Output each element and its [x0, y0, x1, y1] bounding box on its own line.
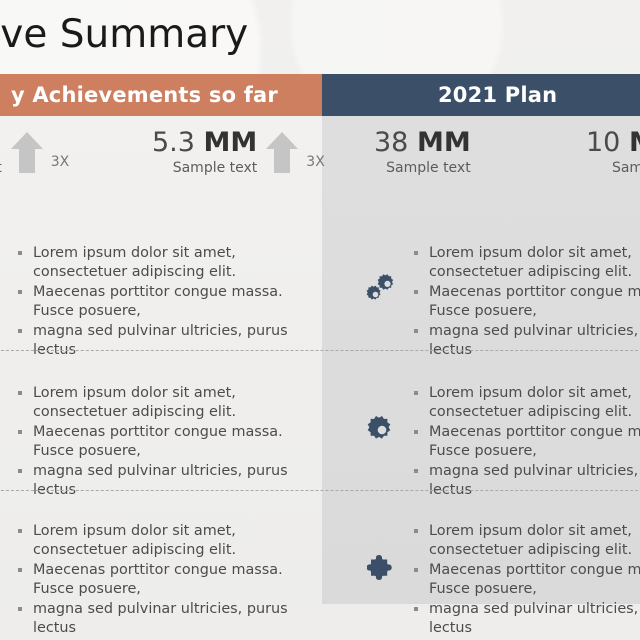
- metric-2-text: 5.3 MM Sample text: [152, 128, 257, 177]
- column-header-achievements-label: y Achievements so far: [11, 83, 278, 107]
- metric-3-number: 38 MM: [374, 128, 471, 158]
- metric-1-multiplier: 3X: [51, 154, 70, 170]
- list-item-text: magna sed pulvinar ultricies, purus lect…: [429, 322, 640, 360]
- row-3-left-bullets: Lorem ipsum dolor sit amet, consectetuer…: [16, 522, 316, 639]
- metric-1-text: MM le text: [0, 128, 2, 177]
- metric-1: MM le text 3X: [0, 128, 69, 177]
- metric-3-subtitle: Sample text: [386, 159, 471, 177]
- content-row-2: Lorem ipsum dolor sit amet, consectetuer…: [0, 384, 640, 520]
- metric-2-unit: MM: [204, 127, 258, 158]
- slide-canvas: cutive Summary y Achievements so far 202…: [0, 0, 640, 640]
- list-item: Maecenas porttitor congue massa. Fusce p…: [412, 423, 640, 461]
- metric-4: 10 M Sampl: [586, 128, 640, 177]
- row-2-right-bullets: Lorem ipsum dolor sit amet, consectetuer…: [412, 384, 640, 501]
- two-gears-icon: [354, 260, 410, 316]
- metric-1-subtitle: le text: [0, 159, 2, 177]
- list-item: magna sed pulvinar ultricies, purus lect…: [412, 462, 640, 500]
- list-item-text: Maecenas porttitor congue massa. Fusce p…: [33, 283, 316, 321]
- row-3-right-bullets: Lorem ipsum dolor sit amet, consectetuer…: [412, 522, 640, 639]
- list-item-text: magna sed pulvinar ultricies, purus lect…: [33, 322, 316, 360]
- list-item: Lorem ipsum dolor sit amet, consectetuer…: [16, 384, 316, 422]
- list-item-text: magna sed pulvinar ultricies, purus lect…: [429, 600, 640, 638]
- metric-2-subtitle: Sample text: [173, 159, 258, 177]
- list-item-text: Lorem ipsum dolor sit amet, consectetuer…: [33, 244, 316, 282]
- metric-4-value: 10: [586, 127, 620, 158]
- list-item: magna sed pulvinar ultricies, purus lect…: [412, 322, 640, 360]
- metric-2-value: 5.3: [152, 127, 195, 158]
- metric-4-number: 10 M: [586, 128, 640, 158]
- metric-4-unit: M: [629, 127, 640, 158]
- list-item: magna sed pulvinar ultricies, purus lect…: [412, 600, 640, 638]
- list-item-text: Lorem ipsum dolor sit amet, consectetuer…: [429, 522, 640, 560]
- list-item-text: Lorem ipsum dolor sit amet, consectetuer…: [429, 384, 640, 422]
- metric-2: 5.3 MM Sample text 3X: [152, 128, 325, 177]
- list-item-text: Lorem ipsum dolor sit amet, consectetuer…: [33, 522, 316, 560]
- row-1-left-bullets: Lorem ipsum dolor sit amet, consectetuer…: [16, 244, 316, 361]
- list-item: magna sed pulvinar ultricies, purus lect…: [16, 322, 316, 360]
- metric-2-arrow-wrap: 3X: [265, 128, 325, 174]
- column-header-plan: 2021 Plan: [322, 74, 640, 116]
- metric-3-value: 38: [374, 127, 408, 158]
- row-1-right-bullets: Lorem ipsum dolor sit amet, consectetuer…: [412, 244, 640, 361]
- list-item-text: magna sed pulvinar ultricies, purus lect…: [429, 462, 640, 500]
- page-title: cutive Summary: [0, 8, 428, 62]
- list-item: Maecenas porttitor congue massa. Fusce p…: [16, 283, 316, 321]
- content-row-3: Lorem ipsum dolor sit amet, consectetuer…: [0, 522, 640, 640]
- list-item-text: Maecenas porttitor congue massa. Fusce p…: [33, 561, 316, 599]
- metric-4-subtitle: Sampl: [612, 159, 640, 177]
- list-item-text: magna sed pulvinar ultricies, purus lect…: [33, 462, 316, 500]
- list-item-text: Maecenas porttitor congue massa. Fusce p…: [33, 423, 316, 461]
- row-divider-1: [0, 350, 640, 351]
- metric-1-unit: MM: [0, 127, 2, 158]
- list-item-text: Lorem ipsum dolor sit amet, consectetuer…: [33, 384, 316, 422]
- row-divider-2: [0, 490, 640, 491]
- list-item: Maecenas porttitor congue massa. Fusce p…: [412, 561, 640, 599]
- column-header-achievements: y Achievements so far: [0, 74, 322, 116]
- list-item: Lorem ipsum dolor sit amet, consectetuer…: [412, 244, 640, 282]
- metric-4-text: 10 M Sampl: [586, 128, 640, 177]
- metric-3-unit: MM: [417, 127, 471, 158]
- list-item: Maecenas porttitor congue massa. Fusce p…: [412, 283, 640, 321]
- metric-3-text: 38 MM Sample text: [374, 128, 471, 177]
- list-item-text: Maecenas porttitor congue massa. Fusce p…: [429, 423, 640, 461]
- list-item: magna sed pulvinar ultricies, purus lect…: [16, 462, 316, 500]
- list-item-text: Lorem ipsum dolor sit amet, consectetuer…: [429, 244, 640, 282]
- metric-2-multiplier: 3X: [306, 154, 325, 170]
- metric-1-arrow-wrap: 3X: [10, 128, 70, 174]
- content-row-1: Lorem ipsum dolor sit amet, consectetuer…: [0, 244, 640, 380]
- row-2-left-bullets: Lorem ipsum dolor sit amet, consectetuer…: [16, 384, 316, 501]
- list-item-text: Maecenas porttitor congue massa. Fusce p…: [429, 283, 640, 321]
- column-header-plan-label: 2021 Plan: [438, 83, 557, 107]
- list-item-text: Maecenas porttitor congue massa. Fusce p…: [429, 561, 640, 599]
- metric-2-number: 5.3 MM: [152, 128, 257, 158]
- metric-1-number: MM: [0, 128, 2, 158]
- up-arrow-icon: [10, 130, 44, 174]
- list-item: Lorem ipsum dolor sit amet, consectetuer…: [16, 522, 316, 560]
- list-item: Lorem ipsum dolor sit amet, consectetuer…: [412, 522, 640, 560]
- list-item: magna sed pulvinar ultricies, purus lect…: [16, 600, 316, 638]
- list-item: Maecenas porttitor congue massa. Fusce p…: [16, 423, 316, 461]
- list-item: Maecenas porttitor congue massa. Fusce p…: [16, 561, 316, 599]
- list-item-text: magna sed pulvinar ultricies, purus lect…: [33, 600, 316, 638]
- up-arrow-icon: [265, 130, 299, 174]
- list-item: Lorem ipsum dolor sit amet, consectetuer…: [412, 384, 640, 422]
- gear-icon: [354, 402, 410, 458]
- puzzle-piece-icon: [354, 540, 410, 596]
- metric-3: 38 MM Sample text: [374, 128, 471, 177]
- list-item: Lorem ipsum dolor sit amet, consectetuer…: [16, 244, 316, 282]
- metrics-strip: MM le text 3X 5.3 MM Sample text: [0, 128, 640, 198]
